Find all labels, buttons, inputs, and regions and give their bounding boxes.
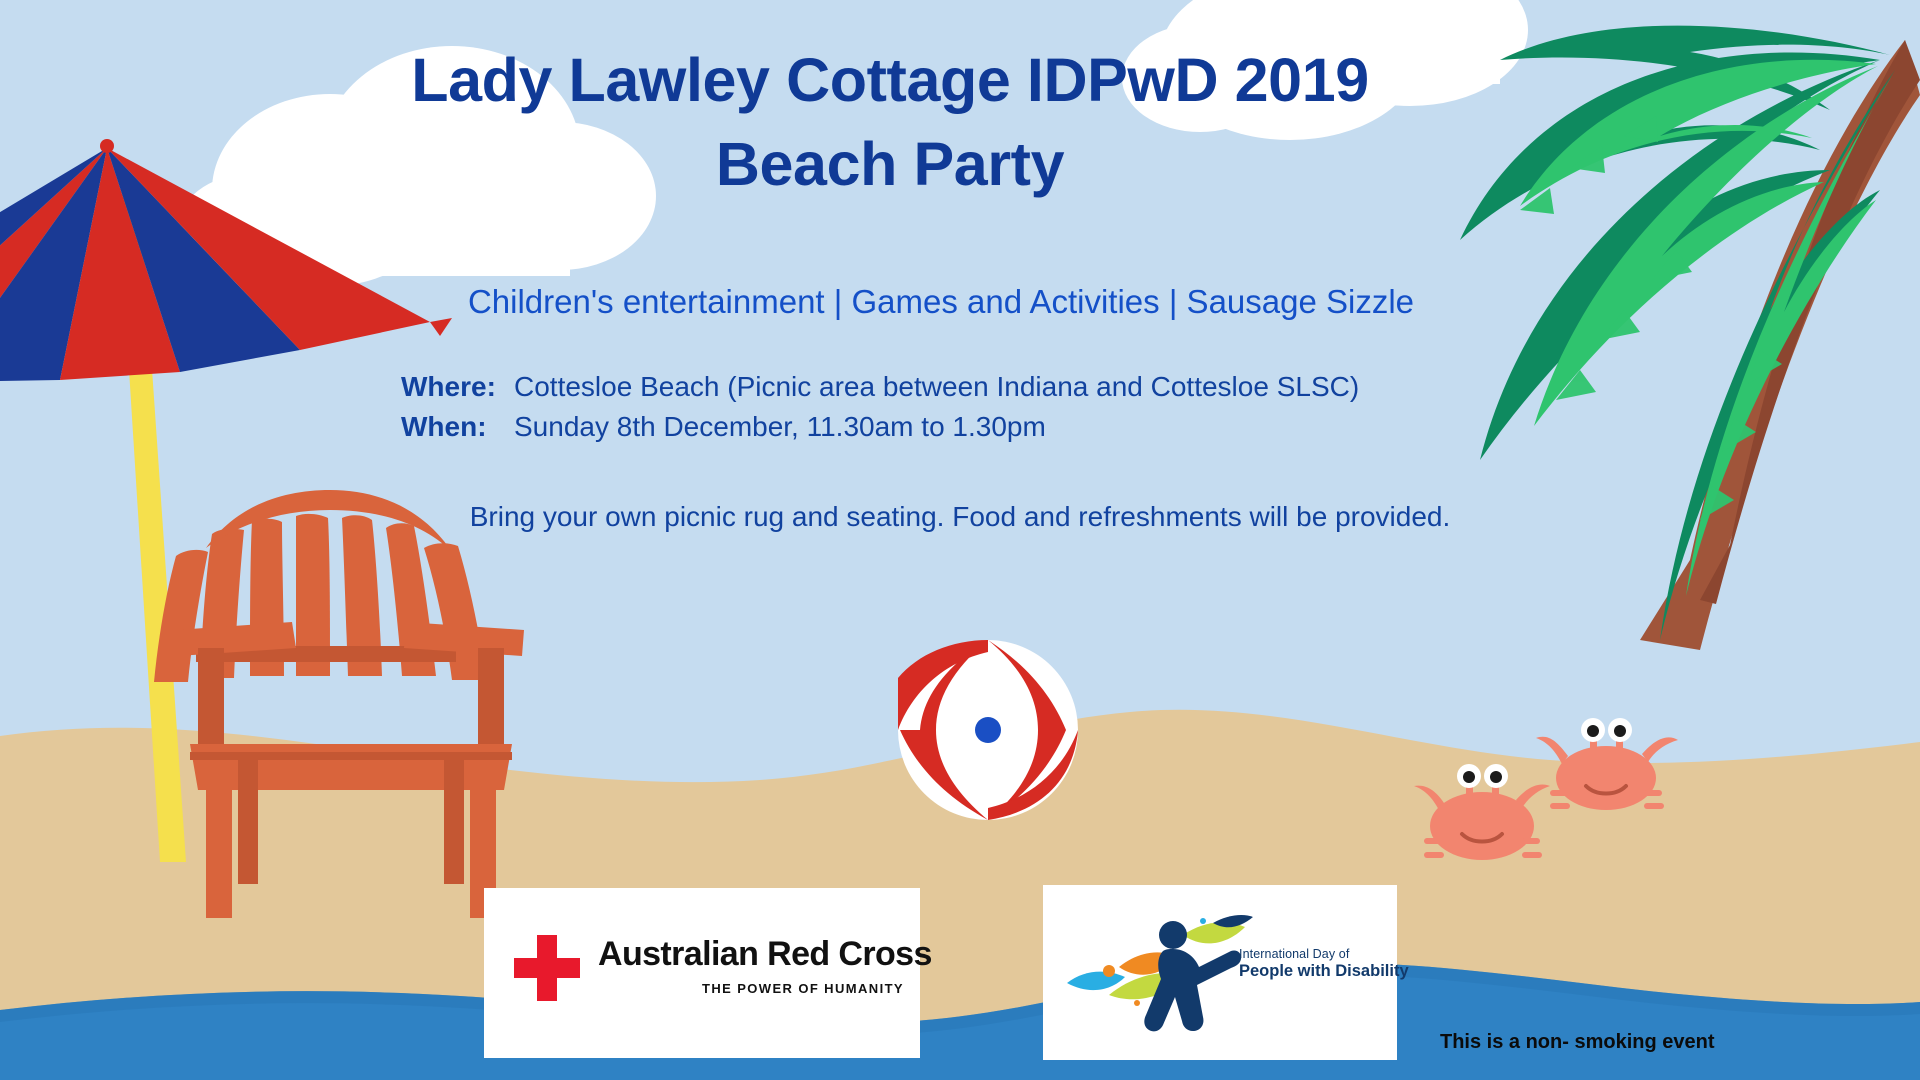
where-value: Cottesloe Beach (Picnic area between Ind… [514,367,1359,407]
beach-ball [898,640,1078,820]
idpwd-figure-icon [1063,913,1253,1033]
title-line-1: Lady Lawley Cottage IDPwD 2019 [0,38,1780,122]
idpwd-wordmark: International Day of People with Disabil… [1239,947,1409,981]
page-title: Lady Lawley Cottage IDPwD 2019 Beach Par… [0,38,1780,206]
bring-your-own-note: Bring your own picnic rug and seating. F… [420,497,1500,538]
idpwd-line-2: People with Disability [1239,962,1409,981]
poster-canvas: Lady Lawley Cottage IDPwD 2019 Beach Par… [0,0,1920,1080]
red-cross-name: Australian Red Cross [598,935,932,974]
title-line-2: Beach Party [0,122,1780,206]
detail-row-where: Where: Cottesloe Beach (Picnic area betw… [401,367,1521,407]
detail-row-when: When: Sunday 8th December, 11.30am to 1.… [401,407,1521,447]
idpwd-line-1: International Day of [1239,947,1409,961]
australian-red-cross-logo: Australian Red Cross THE POWER OF HUMANI… [484,888,920,1058]
when-value: Sunday 8th December, 11.30am to 1.30pm [514,407,1046,447]
red-cross-tagline: THE POWER OF HUMANITY [602,981,904,996]
red-cross-icon [514,935,580,1001]
idpwd-logo: International Day of People with Disabil… [1043,885,1397,1060]
non-smoking-notice: This is a non- smoking event [1440,1031,1715,1054]
event-details: Where: Cottesloe Beach (Picnic area betw… [401,367,1521,447]
when-label: When: [401,407,514,447]
where-label: Where: [401,367,514,407]
event-subtitle: Children's entertainment | Games and Act… [0,283,1882,321]
